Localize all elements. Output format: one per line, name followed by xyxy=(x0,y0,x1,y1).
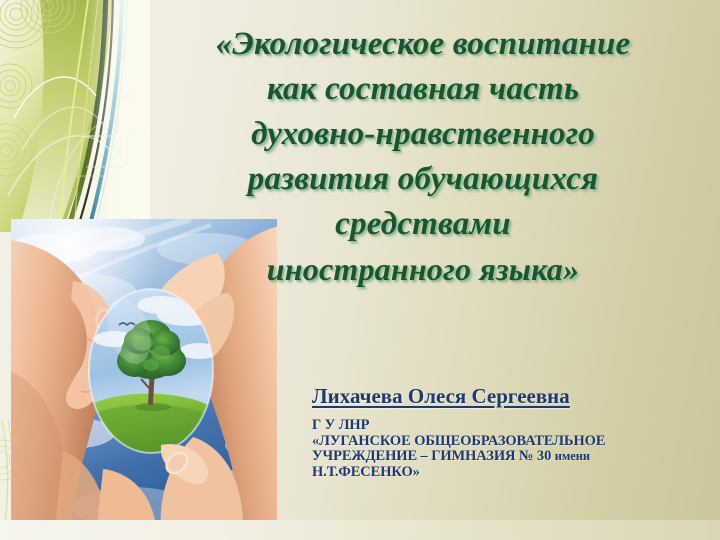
title-line-5: средствами xyxy=(128,202,718,247)
author-block: Лихачева Олеся Сергеевна Г У ЛНР «ЛУГАНС… xyxy=(312,383,712,480)
author-name: Лихачева Олеся Сергеевна xyxy=(312,383,712,409)
title-line-6: иностранного языка» xyxy=(128,247,718,292)
title-line-4: развития обучающихся xyxy=(128,157,718,202)
title-line-3: духовно-нравственного xyxy=(128,112,718,157)
title-line-1: «Экологическое воспитание xyxy=(128,22,718,67)
bottom-band xyxy=(0,520,720,540)
slide-title: «Экологическое воспитание как составная … xyxy=(128,22,718,292)
org-line-1: Г У ЛНР xyxy=(312,418,712,434)
org-line-2: «ЛУГАНСКОЕ ОБЩЕОБРАЗОВАТЕЛЬНОЕ xyxy=(312,434,712,450)
title-line-2: как составная часть xyxy=(128,67,718,112)
presentation-slide: «Экологическое воспитание как составная … xyxy=(0,0,720,540)
org-line-3-tail: имени xyxy=(555,449,590,463)
org-line-4: Н.Т.ФЕСЕНКО» xyxy=(312,465,712,481)
org-line-3: УЧРЕЖДЕНИЕ – ГИМНАЗИЯ № 30 имени xyxy=(312,449,712,465)
organization-block: Г У ЛНР «ЛУГАНСКОЕ ОБЩЕОБРАЗОВАТЕЛЬНОЕ У… xyxy=(312,418,712,480)
org-line-3-main: УЧРЕЖДЕНИЕ – ГИМНАЗИЯ № 30 xyxy=(312,448,555,464)
